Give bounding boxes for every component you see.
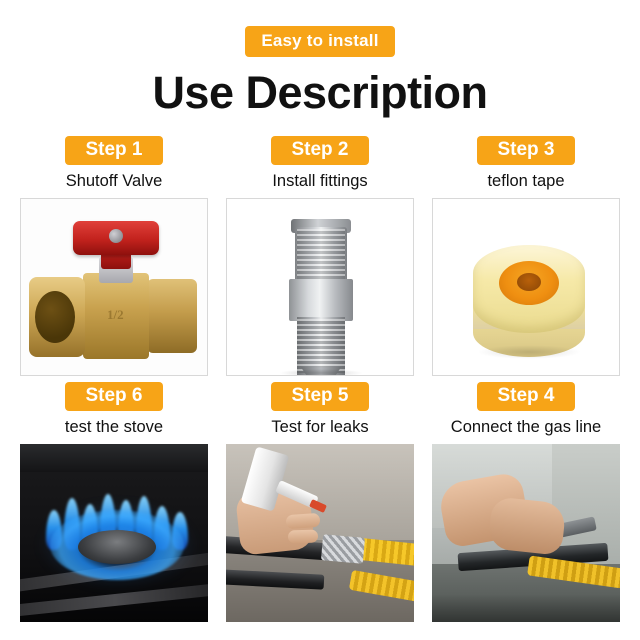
steel-flare-fitting-photo [226, 198, 414, 376]
steps-grid: Step 1 Shutoff Valve 1/2 Step 2 Install … [0, 136, 640, 622]
step-card-5: Step 5 Test for leaks [224, 382, 416, 622]
step-badge-3: Step 3 [477, 136, 574, 165]
valve-size-marking: 1/2 [107, 307, 165, 325]
gas-stove-flame-photo [20, 444, 208, 622]
fitting-lower-threads [297, 319, 345, 373]
step-badge-4: Step 4 [477, 382, 574, 411]
step-caption-5: Test for leaks [271, 418, 368, 438]
braided-connector [321, 534, 365, 564]
fitting-shadow [279, 369, 363, 376]
finger [288, 530, 318, 544]
tape-shadow [477, 345, 581, 359]
step-caption-4: Connect the gas line [451, 418, 601, 438]
step-caption-6: test the stove [65, 418, 163, 438]
burner-cap [78, 530, 156, 564]
stove-pan-edge [20, 444, 208, 472]
brass-shutoff-valve-photo: 1/2 [20, 198, 208, 376]
step-card-6: Step 6 test the stove [18, 382, 210, 622]
fitting-upper-threads [297, 229, 345, 281]
step-card-1: Step 1 Shutoff Valve 1/2 [18, 136, 210, 376]
easy-to-install-badge: Easy to install [245, 26, 394, 57]
connect-gas-line-photo [432, 444, 620, 622]
use-description-infographic: Easy to install Use Description Step 1 S… [0, 0, 640, 640]
step-caption-3: teflon tape [487, 172, 564, 192]
step-caption-2: Install fittings [272, 172, 367, 192]
header: Easy to install Use Description [0, 0, 640, 116]
fitting-hex-nut [289, 279, 353, 321]
step-badge-1: Step 1 [65, 136, 162, 165]
right-hand [487, 497, 566, 556]
finger [286, 513, 321, 529]
step-card-2: Step 2 Install fittings [224, 136, 416, 376]
valve-left-thread-port [29, 277, 85, 357]
teflon-tape-roll-photo [432, 198, 620, 376]
page-title: Use Description [0, 69, 640, 116]
step-card-3: Step 3 teflon tape [430, 136, 622, 376]
step-badge-2: Step 2 [271, 136, 368, 165]
floor-shadow [432, 594, 620, 622]
step-badge-6: Step 6 [65, 382, 162, 411]
step-caption-1: Shutoff Valve [66, 172, 163, 192]
step-card-4: Step 4 Connect the gas line [430, 382, 622, 622]
step-badge-5: Step 5 [271, 382, 368, 411]
leak-test-spray-photo [226, 444, 414, 622]
